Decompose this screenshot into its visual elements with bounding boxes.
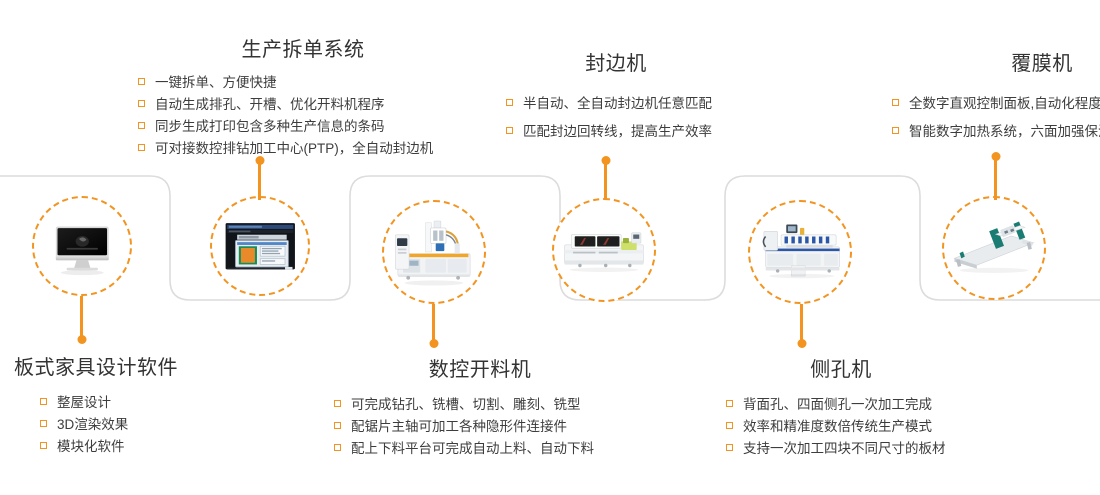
- checkbox-bullet-icon: [138, 144, 145, 151]
- edge-banding-machine-icon: [561, 207, 647, 293]
- checkbox-bullet-icon: [726, 444, 733, 451]
- list-item: 可对接数控排钻加工中心(PTP)，全自动封边机: [138, 138, 468, 160]
- node-laminator[interactable]: [942, 196, 1046, 300]
- list-item: 一键拆单、方便快捷: [138, 72, 468, 94]
- list-item: 匹配封边回转线，提高生产效率: [506, 118, 746, 146]
- list-item: 支持一次加工四块不同尺寸的板材: [726, 438, 1016, 460]
- list-item: 智能数字加热系统，六面加强保温: [892, 118, 1100, 146]
- checkbox-bullet-icon: [892, 127, 899, 134]
- list-item-label: 匹配封边回转线，提高生产效率: [523, 124, 712, 139]
- node-edgebander[interactable]: [552, 198, 656, 302]
- checkbox-bullet-icon: [138, 122, 145, 129]
- list-item: 整屋设计: [40, 392, 244, 414]
- checkbox-bullet-icon: [506, 127, 513, 134]
- list-item-label: 可对接数控排钻加工中心(PTP)，全自动封边机: [155, 141, 433, 156]
- connector-dot: [797, 339, 806, 348]
- list-item-label: 可完成钻孔、铣槽、切割、雕刻、铣型: [351, 397, 581, 412]
- imac-monitor-icon: [41, 205, 124, 288]
- list-item-label: 全数字直观控制面板,自动化程度高: [909, 96, 1100, 111]
- cnc-router-machine-icon: [391, 209, 477, 295]
- checkbox-bullet-icon: [726, 400, 733, 407]
- list-item-label: 半自动、全自动封边机任意匹配: [523, 96, 712, 111]
- block-edge-banding: 封边机 半自动、全自动封边机任意匹配 匹配封边回转线，提高生产效率: [506, 52, 746, 146]
- list-item: 3D渲染效果: [40, 414, 244, 436]
- connector-edge-banding: [604, 160, 607, 200]
- checkbox-bullet-icon: [334, 422, 341, 429]
- connector-side-drilling: [800, 304, 803, 344]
- cad-software-screen-icon: [219, 205, 302, 288]
- list-item-label: 配锯片主轴可加工各种隐形件连接件: [351, 419, 567, 434]
- block-bullet-list: 半自动、全自动封边机任意匹配 匹配封边回转线，提高生产效率: [506, 90, 746, 146]
- block-bullet-list: 全数字直观控制面板,自动化程度高 智能数字加热系统，六面加强保温: [892, 90, 1100, 146]
- laminating-machine-icon: [951, 205, 1037, 291]
- process-flow-rail: [0, 160, 1100, 370]
- list-item: 模块化软件: [40, 436, 244, 458]
- block-design-software: 板式家具设计软件 整屋设计 3D渲染效果 模块化软件: [14, 356, 244, 458]
- list-item: 配上下料平台可完成自动上料、自动下料: [334, 438, 634, 460]
- rail-path: [0, 160, 1100, 370]
- list-item: 全数字直观控制面板,自动化程度高: [892, 90, 1100, 118]
- block-title: 覆膜机: [972, 52, 1100, 76]
- block-title: 生产拆单系统: [138, 38, 468, 62]
- list-item: 可完成钻孔、铣槽、切割、雕刻、铣型: [334, 394, 634, 416]
- list-item: 自动生成排孔、开槽、优化开料机程序: [138, 94, 468, 116]
- checkbox-bullet-icon: [138, 78, 145, 85]
- connector-dot: [429, 339, 438, 348]
- list-item-label: 3D渲染效果: [57, 417, 128, 432]
- checkbox-bullet-icon: [334, 444, 341, 451]
- connector-dot: [991, 152, 1000, 161]
- list-item-label: 自动生成排孔、开槽、优化开料机程序: [155, 97, 385, 112]
- node-cnc-router[interactable]: [382, 200, 486, 304]
- block-title: 封边机: [486, 52, 746, 76]
- list-item-label: 模块化软件: [57, 439, 125, 454]
- block-bullet-list: 背面孔、四面侧孔一次加工完成 效率和精准度数倍传统生产模式 支持一次加工四块不同…: [726, 394, 1016, 460]
- list-item-label: 智能数字加热系统，六面加强保温: [909, 124, 1100, 139]
- block-bullet-list: 整屋设计 3D渲染效果 模块化软件: [14, 392, 244, 458]
- node-monitor[interactable]: [32, 196, 132, 296]
- list-item: 效率和精准度数倍传统生产模式: [726, 416, 1016, 438]
- checkbox-bullet-icon: [40, 420, 47, 427]
- list-item-label: 一键拆单、方便快捷: [155, 75, 277, 90]
- block-title: 侧孔机: [666, 358, 1016, 382]
- block-order-splitting: 生产拆单系统 一键拆单、方便快捷 自动生成排孔、开槽、优化开料机程序 同步生成打…: [138, 38, 468, 160]
- node-side-driller[interactable]: [748, 200, 852, 304]
- block-bullet-list: 一键拆单、方便快捷 自动生成排孔、开槽、优化开料机程序 同步生成打印包含多种生产…: [138, 72, 468, 160]
- checkbox-bullet-icon: [40, 442, 47, 449]
- checkbox-bullet-icon: [40, 398, 47, 405]
- block-side-drilling: 侧孔机 背面孔、四面侧孔一次加工完成 效率和精准度数倍传统生产模式 支持一次加工…: [726, 358, 1016, 460]
- block-cnc-cutting: 数控开料机 可完成钻孔、铣槽、切割、雕刻、铣型 配锯片主轴可加工各种隐形件连接件…: [334, 358, 634, 460]
- checkbox-bullet-icon: [334, 400, 341, 407]
- side-drilling-machine-icon: [757, 209, 843, 295]
- connector-order-splitting: [258, 160, 261, 200]
- list-item: 背面孔、四面侧孔一次加工完成: [726, 394, 1016, 416]
- checkbox-bullet-icon: [726, 422, 733, 429]
- infographic-canvas: 生产拆单系统 一键拆单、方便快捷 自动生成排孔、开槽、优化开料机程序 同步生成打…: [0, 0, 1100, 495]
- block-title: 板式家具设计软件: [14, 356, 244, 380]
- connector-design-software: [80, 296, 83, 340]
- block-bullet-list: 可完成钻孔、铣槽、切割、雕刻、铣型 配锯片主轴可加工各种隐形件连接件 配上下料平…: [334, 394, 634, 460]
- connector-dot: [77, 335, 86, 344]
- list-item: 同步生成打印包含多种生产信息的条码: [138, 116, 468, 138]
- checkbox-bullet-icon: [138, 100, 145, 107]
- checkbox-bullet-icon: [506, 99, 513, 106]
- block-laminating: 覆膜机 全数字直观控制面板,自动化程度高 智能数字加热系统，六面加强保温: [892, 52, 1100, 146]
- connector-laminating: [994, 156, 997, 200]
- list-item-label: 整屋设计: [57, 395, 111, 410]
- list-item-label: 效率和精准度数倍传统生产模式: [743, 419, 932, 434]
- list-item: 配锯片主轴可加工各种隐形件连接件: [334, 416, 634, 438]
- block-title: 数控开料机: [326, 358, 634, 382]
- list-item-label: 背面孔、四面侧孔一次加工完成: [743, 397, 932, 412]
- list-item-label: 配上下料平台可完成自动上料、自动下料: [351, 441, 594, 456]
- node-software-ui[interactable]: [210, 196, 310, 296]
- list-item-label: 同步生成打印包含多种生产信息的条码: [155, 119, 385, 134]
- checkbox-bullet-icon: [892, 99, 899, 106]
- connector-cnc-cutting: [432, 304, 435, 344]
- list-item-label: 支持一次加工四块不同尺寸的板材: [743, 441, 946, 456]
- connector-dot: [601, 156, 610, 165]
- list-item: 半自动、全自动封边机任意匹配: [506, 90, 746, 118]
